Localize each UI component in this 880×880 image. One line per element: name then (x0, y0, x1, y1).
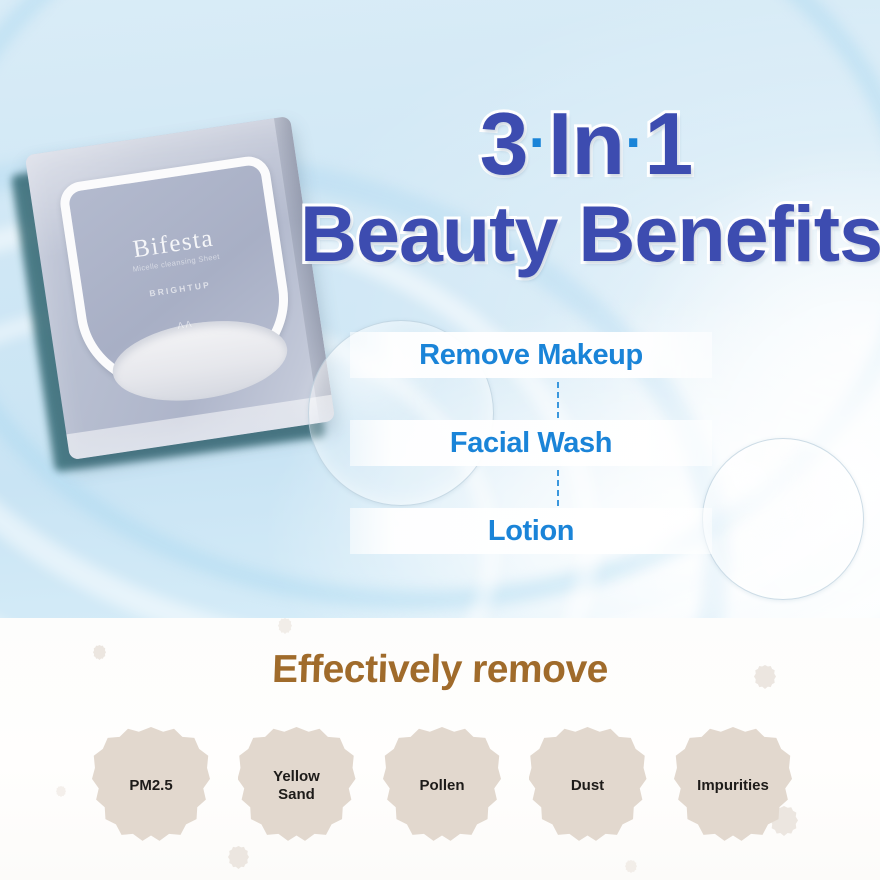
product-box: Bifesta Micelle cleansing Sheet BRIGHTUP… (25, 116, 336, 460)
title-number-3: 3 (480, 94, 528, 193)
title-word-in: In (548, 94, 624, 193)
title-number-1: 1 (644, 94, 692, 193)
promo-banner: Bifesta Micelle cleansing Sheet BRIGHTUP… (0, 0, 880, 880)
benefit-connector-dashed (557, 382, 559, 418)
page-title-line-1: 3·In·1 (300, 100, 872, 188)
chip-label: PM2.5 (129, 777, 172, 795)
chip-label: Dust (571, 777, 604, 795)
chip-label: Pollen (419, 777, 464, 795)
decorative-blob-icon (56, 786, 66, 797)
hero-section: Bifesta Micelle cleansing Sheet BRIGHTUP… (0, 0, 880, 618)
benefit-label: Remove Makeup (350, 332, 712, 378)
page-title-line-2: Beauty Benefits (300, 194, 872, 273)
benefit-label: Lotion (350, 508, 712, 554)
impurity-chip-list: PM2.5 YellowSand Pollen Dust Impurities (92, 726, 792, 846)
benefit-row: Facial Wash (350, 420, 712, 466)
chip-label: Impurities (697, 777, 769, 795)
effectively-remove-section: Effectively remove PM2.5 YellowSand Poll… (0, 618, 880, 880)
bubble-icon (702, 438, 864, 600)
impurity-chip: YellowSand (238, 727, 356, 845)
decorative-blob-icon (278, 618, 292, 634)
impurity-chip: PM2.5 (92, 727, 210, 845)
title-dot-separator: · (529, 114, 547, 172)
decorative-blob-icon (228, 846, 249, 869)
chip-label: YellowSand (273, 768, 320, 805)
section-heading: Effectively remove (0, 648, 880, 692)
impurity-chip: Impurities (674, 727, 792, 845)
benefit-label: Facial Wash (350, 420, 712, 466)
title-dot-separator: · (625, 114, 643, 172)
impurity-chip: Pollen (383, 727, 501, 845)
benefit-row: Remove Makeup (350, 332, 712, 378)
decorative-blob-icon (625, 860, 637, 873)
impurity-chip: Dust (529, 727, 647, 845)
hero-title: 3·In·1 Beauty Benefits (300, 100, 872, 273)
benefit-connector-dashed (557, 470, 559, 506)
benefit-row: Lotion (350, 508, 712, 554)
